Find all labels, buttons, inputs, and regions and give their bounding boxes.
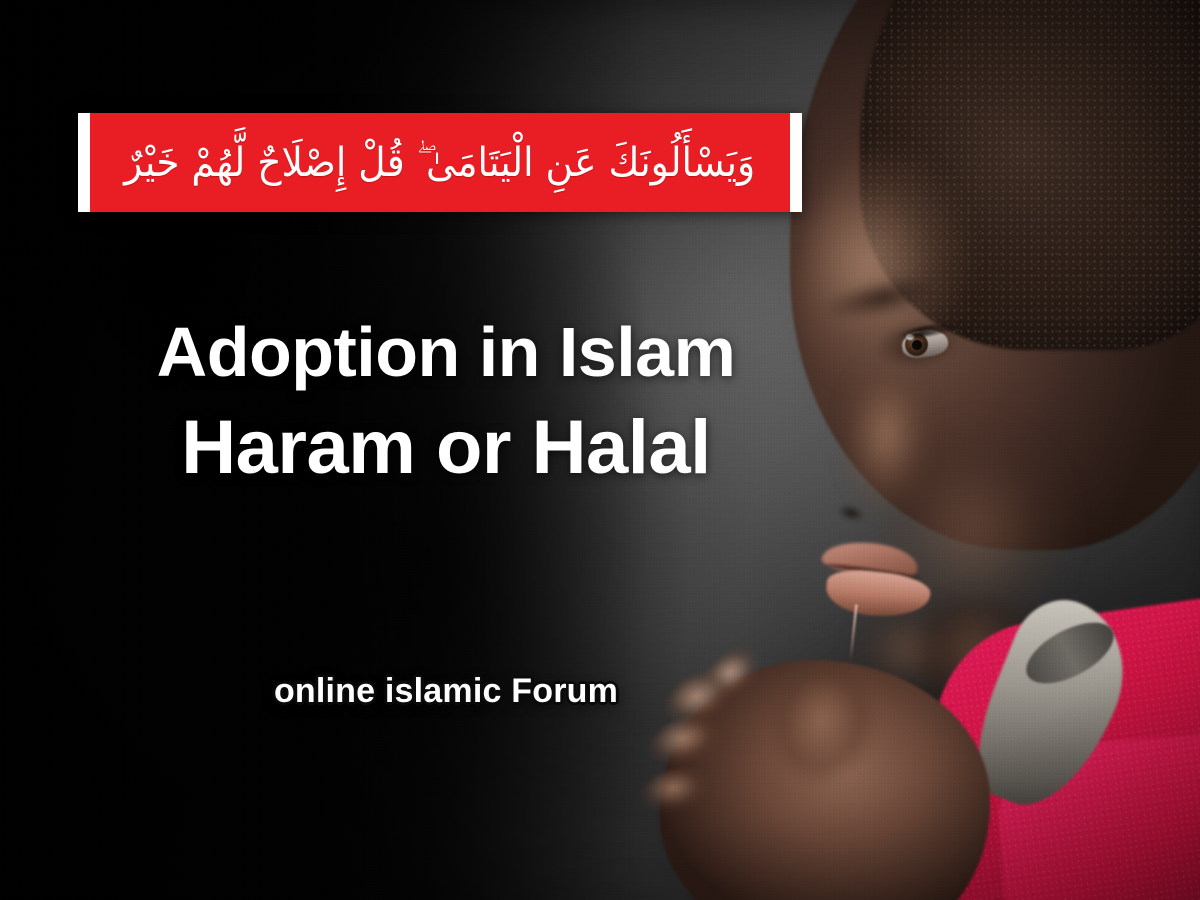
page-title: Adoption in Islam Haram or Halal — [96, 306, 796, 499]
title-line-2: Haram or Halal — [96, 398, 796, 498]
banner-red-field: وَيَسْأَلُونَكَ عَنِ الْيَتَامَىٰ ۖ قُلْ… — [90, 113, 790, 212]
ayah-arabic-text: وَيَسْأَلُونَكَ عَنِ الْيَتَامَىٰ ۖ قُلْ… — [124, 140, 755, 186]
child-eye-pupil — [912, 340, 922, 350]
poster-canvas: وَيَسْأَلُونَكَ عَنِ الْيَتَامَىٰ ۖ قُلْ… — [0, 0, 1200, 900]
brand-subtitle: online islamic Forum — [96, 672, 796, 711]
title-line-1: Adoption in Islam — [96, 306, 796, 398]
banner-right-cap — [790, 113, 802, 212]
banner-left-cap — [78, 113, 90, 212]
ayah-banner: وَيَسْأَلُونَكَ عَنِ الْيَتَامَىٰ ۖ قُلْ… — [78, 113, 802, 212]
